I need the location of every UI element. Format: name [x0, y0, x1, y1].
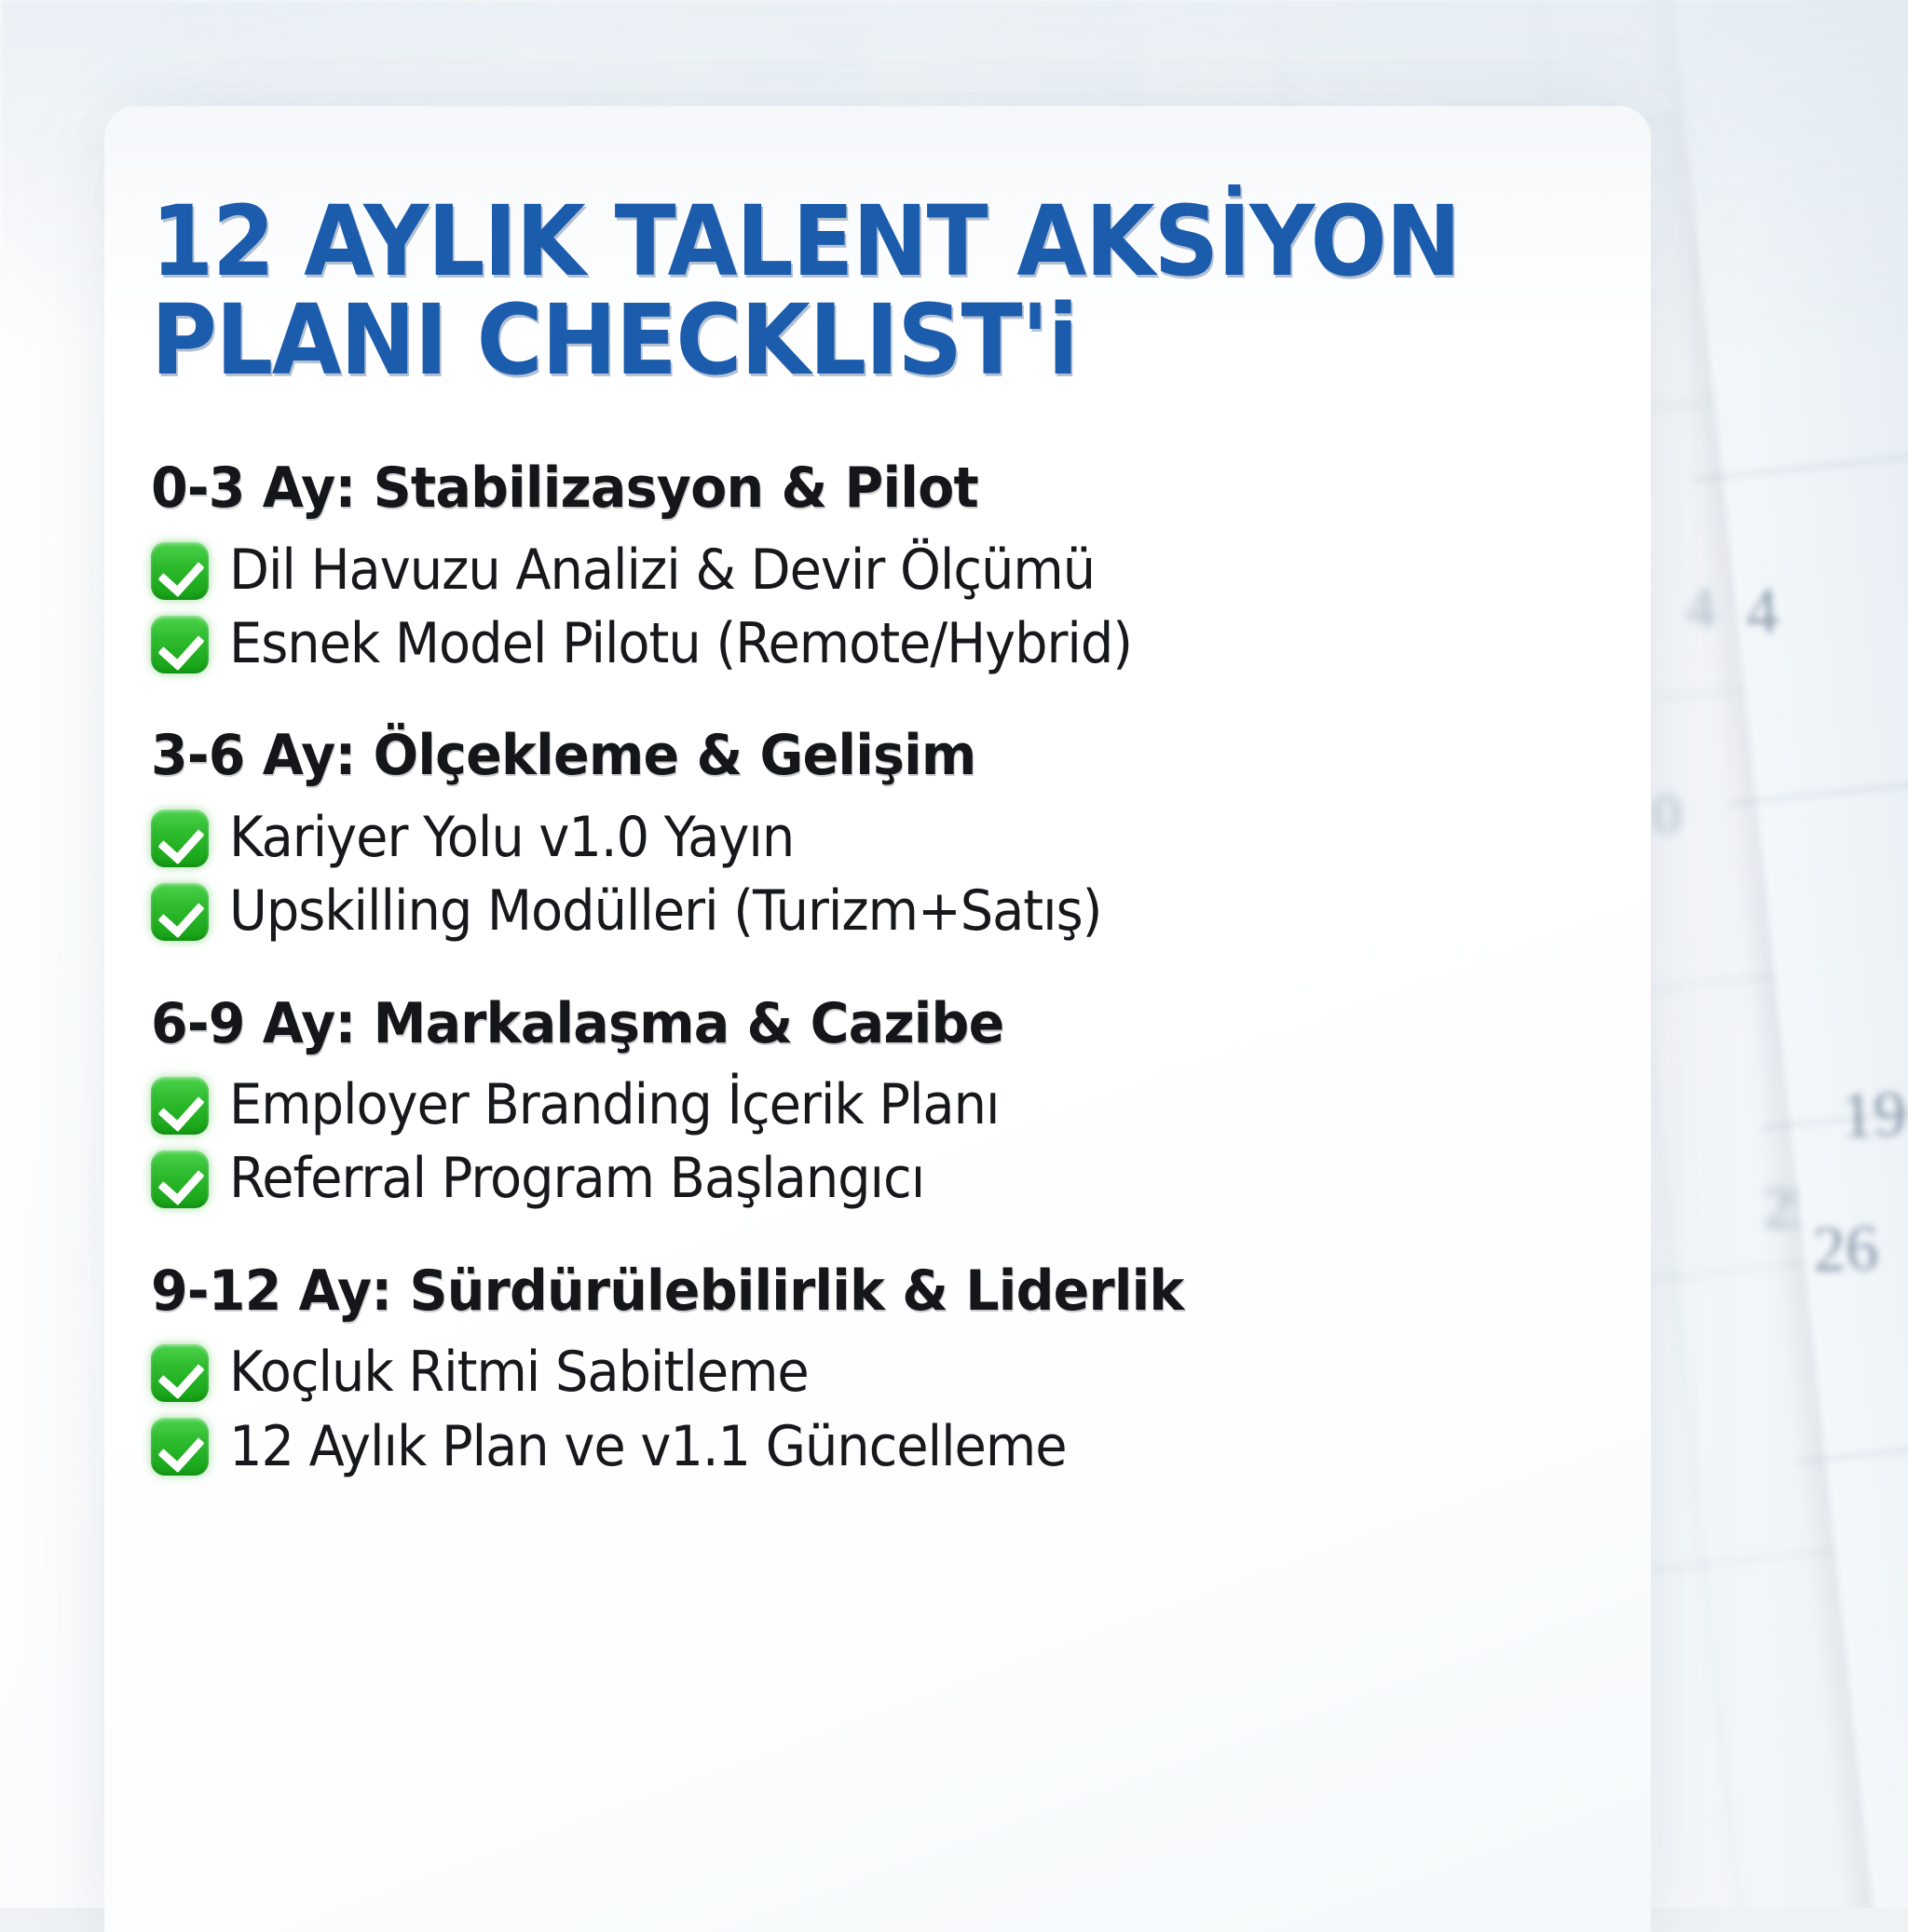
checklist-section: 0-3 Ay: Stabilizasyon & Pilot Dil Havuzu… — [151, 458, 1651, 675]
checklist-item[interactable]: Kariyer Yolu v1.0 Yayın — [151, 807, 1651, 869]
check-mark-button-icon — [151, 1077, 209, 1135]
checklist-item-label: Koçluk Ritmi Sabitleme — [229, 1341, 809, 1404]
check-mark-button-icon — [151, 1344, 209, 1402]
checklist-section: 3-6 Ay: Ölçekleme & Gelişim Kariyer Yolu… — [151, 726, 1651, 943]
checklist-section: 6-9 Ay: Markalaşma & Cazibe Employer Bra… — [151, 994, 1651, 1211]
page-title-line-2: PLANI CHECKLIST'i — [151, 291, 1546, 389]
checklist-item-label: Kariyer Yolu v1.0 Yayın — [229, 807, 794, 869]
checklist-item-label: Referral Program Başlangıcı — [229, 1148, 924, 1210]
checklist-item-label: 12 Aylık Plan ve v1.1 Güncelleme — [229, 1416, 1067, 1478]
checklist-item-label: Employer Branding İçerik Planı — [229, 1074, 999, 1136]
card-content: 12 AYLIK TALENT AKSİYON PLANI CHECKLIST'… — [151, 106, 1651, 1932]
checklist-item-label: Upskilling Modülleri (Turizm+Satış) — [229, 880, 1101, 943]
checklist-item[interactable]: Esnek Model Pilotu (Remote/Hybrid) — [151, 613, 1651, 675]
check-mark-button-icon — [151, 616, 209, 673]
page-title: 12 AYLIK TALENT AKSİYON PLANI CHECKLIST'… — [151, 106, 1546, 389]
checklist-item-label: Esnek Model Pilotu (Remote/Hybrid) — [229, 613, 1132, 675]
section-heading: 3-6 Ay: Ölçekleme & Gelişim — [151, 726, 1576, 786]
check-mark-button-icon — [151, 542, 209, 600]
checklist-item[interactable]: 12 Aylık Plan ve v1.1 Güncelleme — [151, 1416, 1651, 1478]
checklist-item[interactable]: Dil Havuzu Analizi & Devir Ölçümü — [151, 539, 1651, 602]
checklist-item-label: Dil Havuzu Analizi & Devir Ölçümü — [229, 539, 1095, 602]
section-heading: 0-3 Ay: Stabilizasyon & Pilot — [151, 458, 1576, 519]
check-mark-button-icon — [151, 1418, 209, 1476]
checklist-item[interactable]: Koçluk Ritmi Sabitleme — [151, 1341, 1651, 1404]
section-heading: 9-12 Ay: Sürdürülebilirlik & Liderlik — [151, 1261, 1576, 1322]
check-mark-button-icon — [151, 1150, 209, 1208]
checklist-section: 9-12 Ay: Sürdürülebilirlik & Liderlik Ko… — [151, 1261, 1651, 1478]
checklist-sections: 0-3 Ay: Stabilizasyon & Pilot Dil Havuzu… — [151, 458, 1651, 1478]
checklist-item[interactable]: Employer Branding İçerik Planı — [151, 1074, 1651, 1136]
section-heading: 6-9 Ay: Markalaşma & Cazibe — [151, 994, 1576, 1054]
checklist-item[interactable]: Upskilling Modülleri (Turizm+Satış) — [151, 880, 1651, 943]
check-mark-button-icon — [151, 883, 209, 941]
page-title-line-1: 12 AYLIK TALENT AKSİYON — [151, 192, 1546, 291]
checklist-item[interactable]: Referral Program Başlangıcı — [151, 1148, 1651, 1210]
checklist-card: 12 AYLIK TALENT AKSİYON PLANI CHECKLIST'… — [104, 106, 1651, 1932]
check-mark-button-icon — [151, 810, 209, 867]
